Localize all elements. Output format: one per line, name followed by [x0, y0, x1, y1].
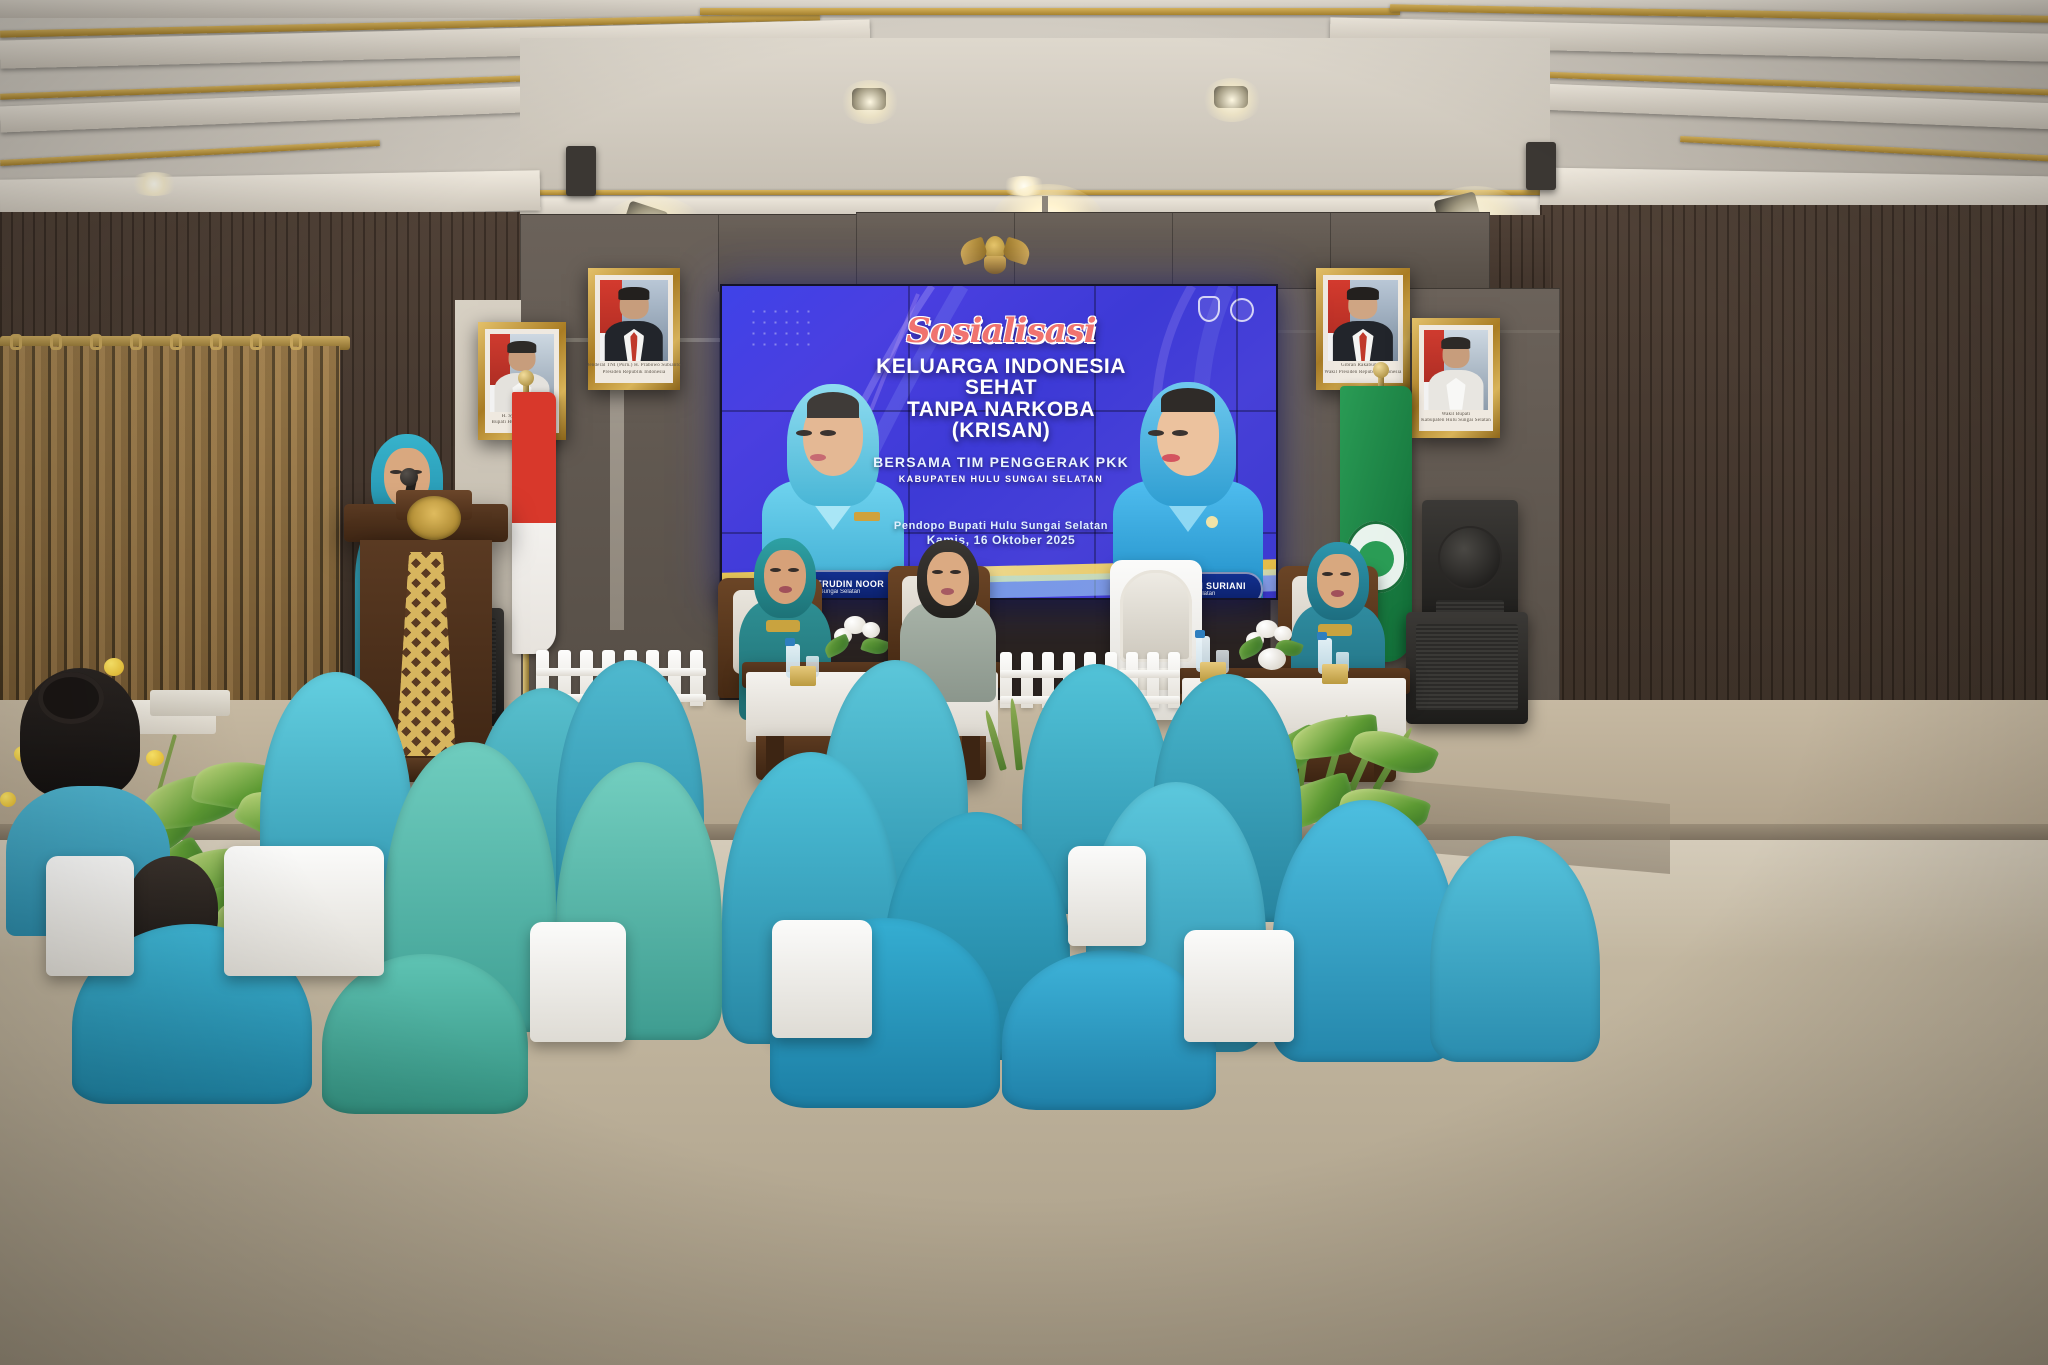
ceiling-gold-trim [700, 8, 1400, 15]
gold-tray [790, 666, 816, 686]
bottle-cap [785, 638, 795, 646]
curtain-ring [210, 334, 222, 350]
curtain-ring [250, 334, 262, 350]
microphone-head [400, 468, 418, 486]
curtain-ring [90, 334, 102, 350]
curtain-ring [10, 334, 22, 350]
indonesia-flag [512, 392, 556, 654]
portrait-caption-line2: Presiden Republik Indonesia [603, 370, 666, 376]
vice-president-portrait: Gibran Rakabuming Wakil Presiden Republi… [1316, 268, 1410, 390]
curtain-ring [50, 334, 62, 350]
flagpole-finial [518, 370, 534, 386]
screen-script-title: Sosialisasi [856, 314, 1146, 348]
audience-chair[interactable] [46, 856, 134, 976]
portrait-caption-line2: Kabupaten Hulu Sungai Selatan [1421, 418, 1491, 424]
screen-subtitle-2: KABUPATEN HULU SUNGAI SELATAN [856, 474, 1146, 484]
wall-panel [718, 214, 858, 292]
portrait-caption-line2: Wakil Presiden Republik Indonesia [1324, 370, 1401, 376]
audience-chair[interactable] [224, 846, 384, 976]
conference-hall-photo: Jenderal TNI (Purn.) H. Prabowo Subianto… [0, 0, 2048, 1365]
curtain-ring [130, 334, 142, 350]
white-flower-bouquet [1258, 648, 1286, 670]
hss-shield-logo [1198, 296, 1220, 322]
screen-headline-3: (KRISAN) [856, 420, 1146, 441]
pkk-emblem-logo [1230, 298, 1254, 322]
gold-tray [1322, 664, 1348, 684]
loudspeaker-top [1422, 500, 1518, 630]
ceiling-downlight [128, 172, 180, 196]
wall-panel [1014, 212, 1174, 290]
bottle-cap [1317, 632, 1327, 640]
audience-chair[interactable] [772, 920, 872, 1038]
garuda-crest [407, 496, 461, 540]
panelist-sash [766, 620, 800, 632]
audience-chair[interactable] [1184, 930, 1294, 1042]
flagpole-finial [1373, 362, 1389, 378]
spotlight-glow [840, 80, 900, 124]
screen-headline-1: KELUARGA INDONESIA SEHAT [856, 356, 1146, 399]
track-spotlight [566, 146, 596, 196]
bottle-cap [1195, 630, 1205, 638]
track-spotlight [1526, 142, 1556, 190]
screen-text-block: Sosialisasi KELUARGA INDONESIA SEHAT TAN… [856, 314, 1146, 548]
screen-dot-grid [748, 306, 810, 348]
screen-venue-line: Pendopo Bupati Hulu Sungai Selatan [856, 520, 1146, 534]
audience-chair[interactable] [1068, 846, 1146, 946]
back-wall-wood-right [1540, 205, 2048, 765]
wall-panel [1172, 212, 1332, 290]
president-portrait: Jenderal TNI (Purn.) H. Prabowo Subianto… [588, 268, 680, 390]
bouquet-leaf [860, 634, 890, 657]
vice-regent-portrait-right: Wakil Bupati Kabupaten Hulu Sungai Selat… [1412, 318, 1500, 438]
curtain-ring [290, 334, 302, 350]
audience-chair[interactable] [530, 922, 626, 1042]
garuda-pancasila-emblem [960, 232, 1030, 278]
white-flower-bouquet [862, 622, 880, 638]
speaker-cone [1438, 526, 1502, 590]
curtain-ring [170, 334, 182, 350]
screen-subtitle-1: BERSAMA TIM PENGGERAK PKK [856, 454, 1146, 470]
screen-headline-2: TANPA NARKOBA [856, 399, 1146, 420]
spotlight-glow [1202, 78, 1262, 122]
